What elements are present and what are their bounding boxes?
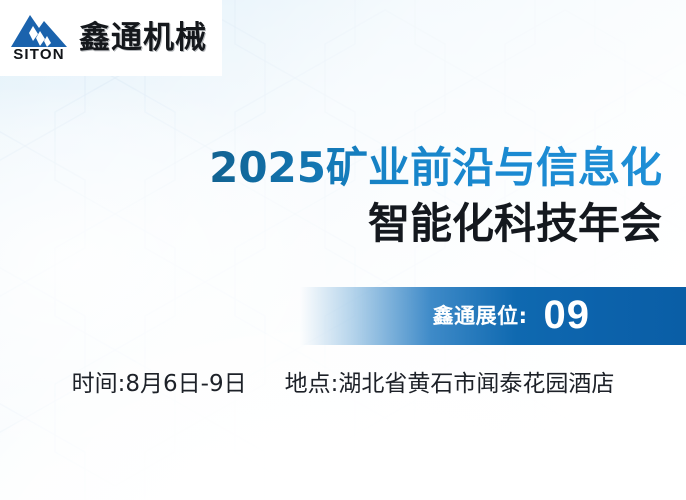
mountain-peak-icon: SITON [8,10,70,66]
booth-number: 09 [544,295,591,335]
event-time: 时间:8月6日-9日 [72,372,247,397]
booth-label: 鑫通展位: [433,306,528,327]
brand-logo: SITON 鑫通机械 [0,0,222,76]
background-left-glow [0,90,329,440]
poster-headline: 2025矿业前沿与信息化 智能化科技年会 [0,142,662,250]
background-right-cloud [357,350,686,500]
logo-chinese-name: 鑫通机械 [79,23,207,54]
headline-line-2: 智能化科技年会 [0,198,662,250]
event-details: 时间:8月6日-9日 地点:湖北省黄石市闻泰花园酒店 [0,372,686,397]
event-place: 地点:湖北省黄石市闻泰花园酒店 [285,372,615,397]
background-bottom-glow [0,330,686,500]
logo-latin-name: SITON [13,47,65,62]
headline-line-1: 2025矿业前沿与信息化 [0,142,662,194]
event-poster: SITON 鑫通机械 2025矿业前沿与信息化 智能化科技年会 鑫通展位: 09… [0,0,686,500]
booth-banner: 鑫通展位: 09 [300,287,686,345]
